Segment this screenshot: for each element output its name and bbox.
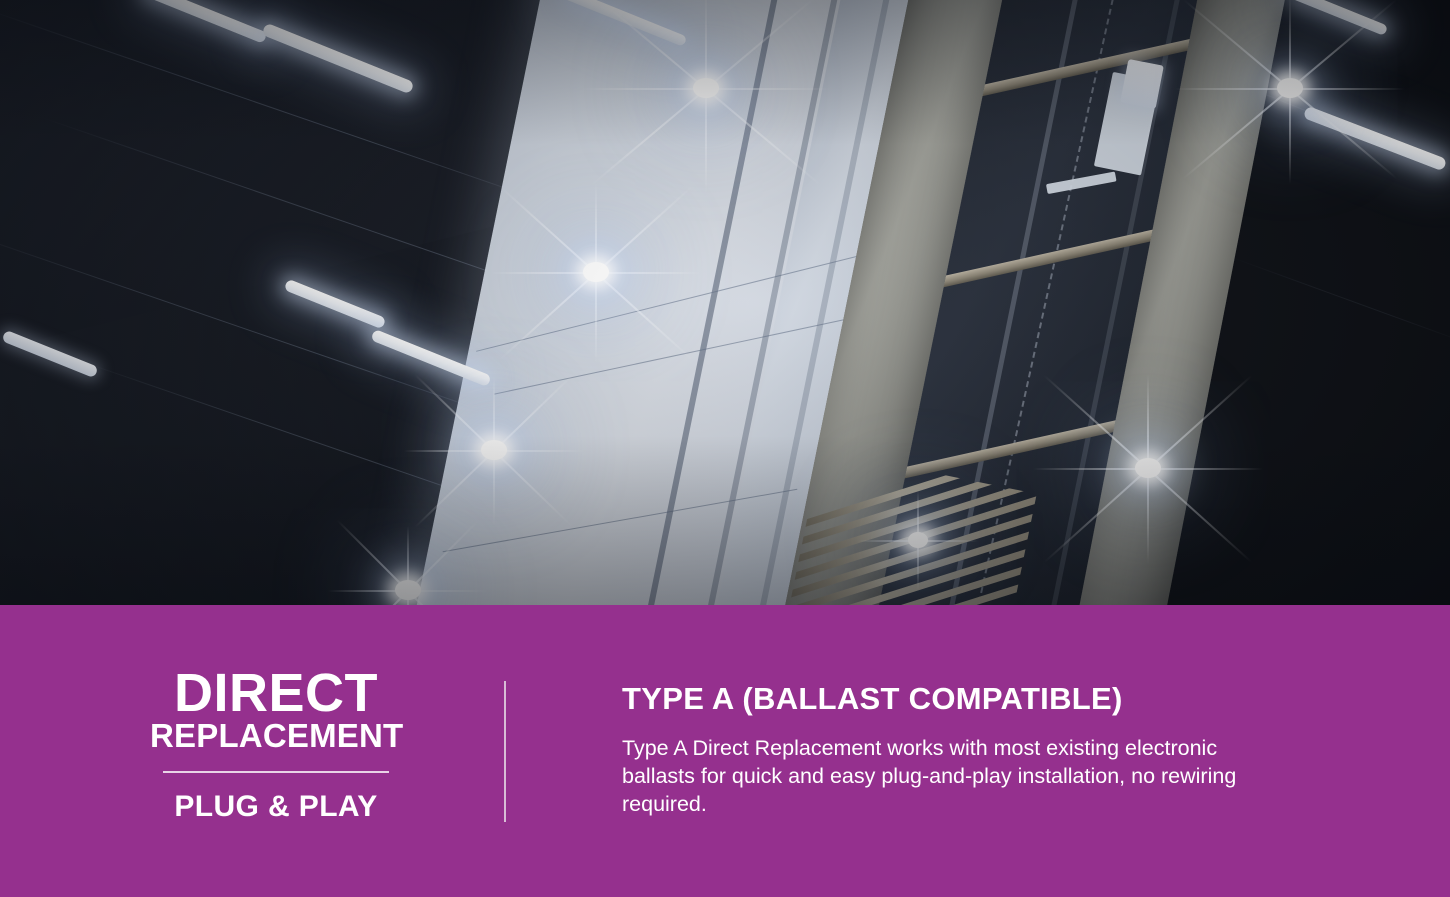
content-heading: TYPE A (BALLAST COMPATIBLE) — [622, 681, 1322, 717]
light-bulb-glow — [583, 262, 609, 282]
title-divider-rule — [163, 771, 389, 773]
purple-banner: DIRECT REPLACEMENT PLUG & PLAY TYPE A (B… — [0, 605, 1450, 897]
title-direct: DIRECT — [150, 668, 402, 718]
glass-reflection — [1046, 171, 1117, 194]
slide-root: DIRECT REPLACEMENT PLUG & PLAY TYPE A (B… — [0, 0, 1450, 897]
title-replacement: REPLACEMENT — [150, 718, 402, 754]
title-plug-and-play: PLUG & PLAY — [150, 790, 402, 824]
light-bulb-glow — [693, 78, 719, 98]
content-body-text: Type A Direct Replacement works with mos… — [622, 734, 1294, 818]
light-bulb-glow — [1135, 458, 1161, 478]
banner-title-block: DIRECT REPLACEMENT PLUG & PLAY — [150, 668, 402, 824]
hero-photo — [0, 0, 1450, 605]
light-bulb-glow — [395, 580, 421, 600]
light-bulb-glow — [481, 440, 507, 460]
light-bulb-glow — [1277, 78, 1303, 98]
light-bulb-glow — [908, 532, 928, 548]
vertical-divider — [504, 681, 506, 822]
banner-content-block: TYPE A (BALLAST COMPATIBLE) Type A Direc… — [622, 681, 1322, 818]
